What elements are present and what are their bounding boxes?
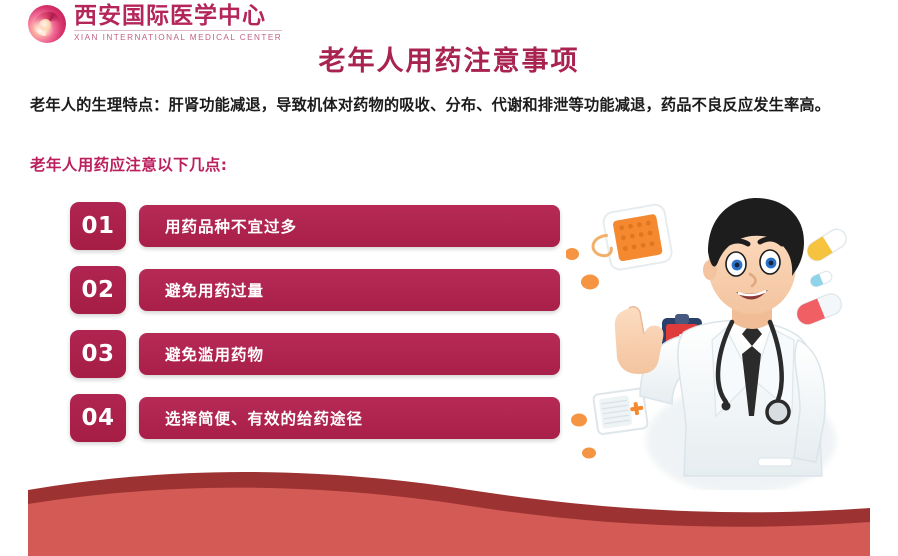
capsule-small-icon	[809, 270, 834, 288]
list-item[interactable]: 02 避免用药过量	[70, 266, 560, 314]
pointing-hand-icon	[615, 307, 664, 374]
list-item[interactable]: 01 用药品种不宜过多	[70, 202, 560, 250]
stethoscope-tip	[722, 402, 731, 411]
brand-name-cn: 西安国际医学中心	[74, 4, 282, 29]
advice-list: 01 用药品种不宜过多 02 避免用药过量 03 避免滥用药物 04 选择简便、…	[70, 202, 560, 458]
list-item-label: 避免滥用药物	[139, 333, 560, 375]
list-item[interactable]: 04 选择简便、有效的给药途径	[70, 394, 560, 442]
list-item-label: 避免用药过量	[139, 269, 560, 311]
intro-paragraph: 老年人的生理特点：肝肾功能减退，导致机体对药物的吸收、分布、代谢和排泄等功能减退…	[30, 88, 873, 122]
cartoon-doctor-illustration	[566, 190, 896, 490]
list-item[interactable]: 03 避免滥用药物	[70, 330, 560, 378]
bottom-wave-decoration	[0, 460, 898, 556]
poster-page: 西安国际医学中心 XIAN INTERNATIONAL MEDICAL CENT…	[0, 0, 898, 556]
list-item-label: 选择简便、有效的给药途径	[139, 397, 560, 439]
pill-dots-icon	[566, 248, 599, 459]
capsule-icon	[804, 226, 850, 264]
phoenix-circle-logo-icon	[28, 5, 66, 43]
brand-name-en: XIAN INTERNATIONAL MEDICAL CENTER	[74, 30, 282, 43]
subheading: 老年人用药应注意以下几点:	[30, 152, 227, 178]
list-item-number: 02	[70, 266, 126, 314]
capsule-red-icon	[794, 291, 845, 328]
brand-logo-text: 西安国际医学中心 XIAN INTERNATIONAL MEDICAL CENT…	[74, 4, 282, 43]
header: 西安国际医学中心 XIAN INTERNATIONAL MEDICAL CENT…	[0, 0, 898, 44]
list-item-number: 01	[70, 202, 126, 250]
stethoscope-chestpiece	[767, 401, 789, 423]
list-item-number: 03	[70, 330, 126, 378]
page-title: 老年人用药注意事项	[0, 44, 898, 80]
pill-packet-icon	[588, 203, 674, 273]
brand-logo[interactable]: 西安国际医学中心 XIAN INTERNATIONAL MEDICAL CENT…	[28, 4, 282, 43]
list-item-label: 用药品种不宜过多	[139, 205, 560, 247]
list-item-number: 04	[70, 394, 126, 442]
